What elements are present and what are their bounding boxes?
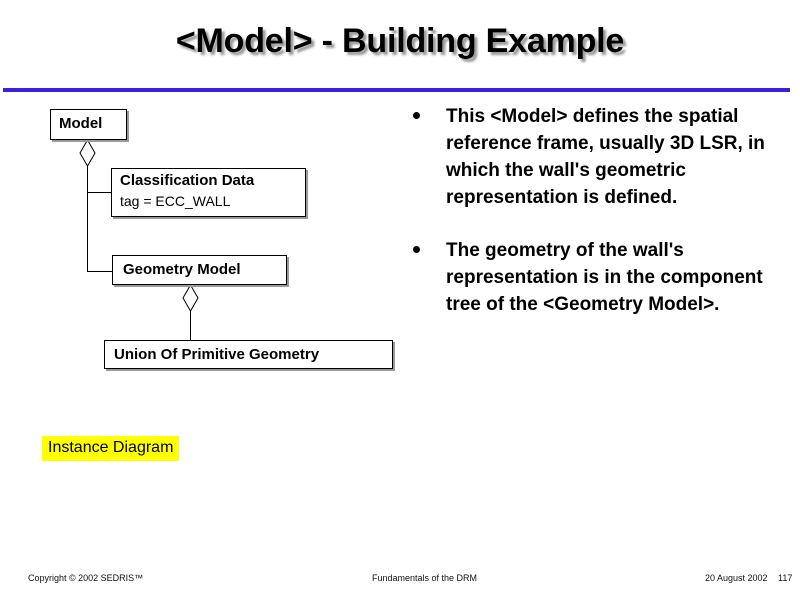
connector-model-to-classification xyxy=(87,192,112,193)
uml-box-title: Geometry Model xyxy=(123,261,241,278)
aggregation-diamond-icon xyxy=(182,284,199,312)
uml-box-classification-data[interactable]: Classification Data tag = ECC_WALL xyxy=(111,168,306,217)
bullet-list: This <Model> defines the spatial referen… xyxy=(408,103,788,344)
uml-box-title: Classification Data xyxy=(120,172,254,189)
list-item: This <Model> defines the spatial referen… xyxy=(408,103,788,211)
uml-box-union-of-primitive-geometry[interactable]: Union Of Primitive Geometry xyxy=(104,340,393,369)
uml-box-title: Union Of Primitive Geometry xyxy=(114,346,319,363)
instance-diagram: Model Classification Data tag = ECC_WALL… xyxy=(0,0,410,520)
slide-canvas: <Model> - Building Example Model Classif… xyxy=(0,0,800,600)
footer-copyright: Copyright © 2002 SEDRIS™ xyxy=(28,573,143,583)
list-item: The geometry of the wall's representatio… xyxy=(408,237,788,318)
footer-date: 20 August 2002 xyxy=(705,573,768,583)
footer-document-title: Fundamentals of the DRM xyxy=(372,573,477,583)
bullet-text: The geometry of the wall's representatio… xyxy=(446,240,763,315)
connector-geometry-to-union xyxy=(190,311,191,341)
footer-page-number: 117 xyxy=(778,573,792,583)
instance-diagram-caption: Instance Diagram xyxy=(42,436,179,461)
uml-box-model[interactable]: Model xyxy=(50,109,127,140)
aggregation-diamond-icon xyxy=(79,139,96,167)
connector-model-to-geometry xyxy=(87,271,113,272)
connector-model-trunk xyxy=(87,166,88,271)
uml-box-title: Model xyxy=(59,115,102,132)
bullet-dot-icon xyxy=(413,246,420,253)
bullet-text: This <Model> defines the spatial referen… xyxy=(446,106,765,208)
uml-box-geometry-model[interactable]: Geometry Model xyxy=(112,255,287,285)
uml-box-attribute: tag = ECC_WALL xyxy=(120,193,230,209)
bullet-dot-icon xyxy=(413,112,420,119)
